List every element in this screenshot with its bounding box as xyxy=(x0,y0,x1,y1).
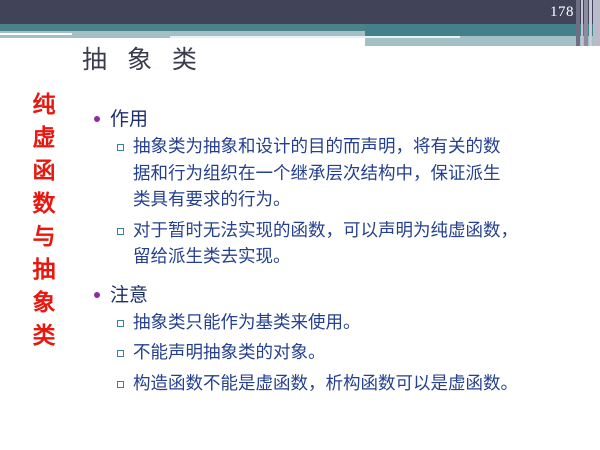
banner-vertical-stripe-2 xyxy=(581,0,583,46)
bullet-line: 不能声明抽象类的对象。 xyxy=(133,340,592,367)
bullet-level1-heading: 作用 xyxy=(92,104,592,134)
bullet-line: 对于暂时无法实现的函数，可以声明为纯虚函数， xyxy=(133,218,592,245)
bullet-line: 留给派生类去实现。 xyxy=(133,244,592,271)
banner-band-teal-right xyxy=(365,24,600,36)
page-number: 178 xyxy=(550,2,574,22)
banner-band-teal-left xyxy=(0,24,365,31)
side-label-char: 抽 xyxy=(22,253,66,286)
bullet-square-icon xyxy=(117,320,124,327)
bullet-square-icon xyxy=(117,228,124,235)
banner-vertical-stripe-1 xyxy=(576,0,580,46)
banner-band-dark xyxy=(0,0,600,24)
banner-hairline-right xyxy=(170,36,460,38)
side-label-char: 函 xyxy=(22,154,66,187)
slide: 178 抽 象 类 纯 虚 函 数 与 抽 象 类 作用 抽象类为抽象和设计的目… xyxy=(0,0,600,450)
bullet-square-icon xyxy=(117,381,124,388)
banner-vertical-stripe-4 xyxy=(589,0,592,46)
bullet-dot-icon xyxy=(94,292,100,298)
side-label-vertical: 纯 虚 函 数 与 抽 象 类 xyxy=(22,88,66,352)
bullet-line: 构造函数不能是虚函数，析构函数可以是虚函数。 xyxy=(133,371,592,398)
bullet-line: 类具有要求的行为。 xyxy=(133,187,592,214)
side-label-char: 与 xyxy=(22,220,66,253)
side-label-char: 数 xyxy=(22,187,66,220)
banner-hairline-left xyxy=(0,33,72,35)
bullet-square-icon xyxy=(117,144,124,151)
bullet-level2-item: 不能声明抽象类的对象。 xyxy=(116,340,592,367)
spacer xyxy=(92,271,592,280)
side-label-char: 象 xyxy=(22,286,66,319)
bullet-line: 据和行为组织在一个继承层次结构中，保证派生 xyxy=(133,161,592,188)
bullet-level1-label: 注意 xyxy=(110,284,148,306)
banner-vertical-stripe-5 xyxy=(593,0,600,46)
side-label-char: 类 xyxy=(22,319,66,352)
bullet-dot-icon xyxy=(94,116,100,122)
bullet-square-icon xyxy=(117,350,124,357)
banner-vertical-stripe-3 xyxy=(584,0,588,46)
bullet-level1-label: 作用 xyxy=(110,108,148,130)
bullet-level2-item: 构造函数不能是虚函数，析构函数可以是虚函数。 xyxy=(116,371,592,398)
page-title: 抽 象 类 xyxy=(82,40,203,76)
bullet-level2-item: 抽象类为抽象和设计的目的而声明，将有关的数 据和行为组织在一个继承层次结构中，保… xyxy=(116,134,592,214)
side-label-char: 虚 xyxy=(22,121,66,154)
slide-body: 作用 抽象类为抽象和设计的目的而声明，将有关的数 据和行为组织在一个继承层次结构… xyxy=(92,104,592,397)
bullet-line: 抽象类为抽象和设计的目的而声明，将有关的数 xyxy=(133,134,592,161)
side-label-char: 纯 xyxy=(22,88,66,121)
bullet-line: 抽象类只能作为基类来使用。 xyxy=(133,310,592,337)
bullet-level2-item: 抽象类只能作为基类来使用。 xyxy=(116,310,592,337)
bullet-level2-item: 对于暂时无法实现的函数，可以声明为纯虚函数， 留给派生类去实现。 xyxy=(116,218,592,271)
bullet-level1-heading: 注意 xyxy=(92,280,592,310)
